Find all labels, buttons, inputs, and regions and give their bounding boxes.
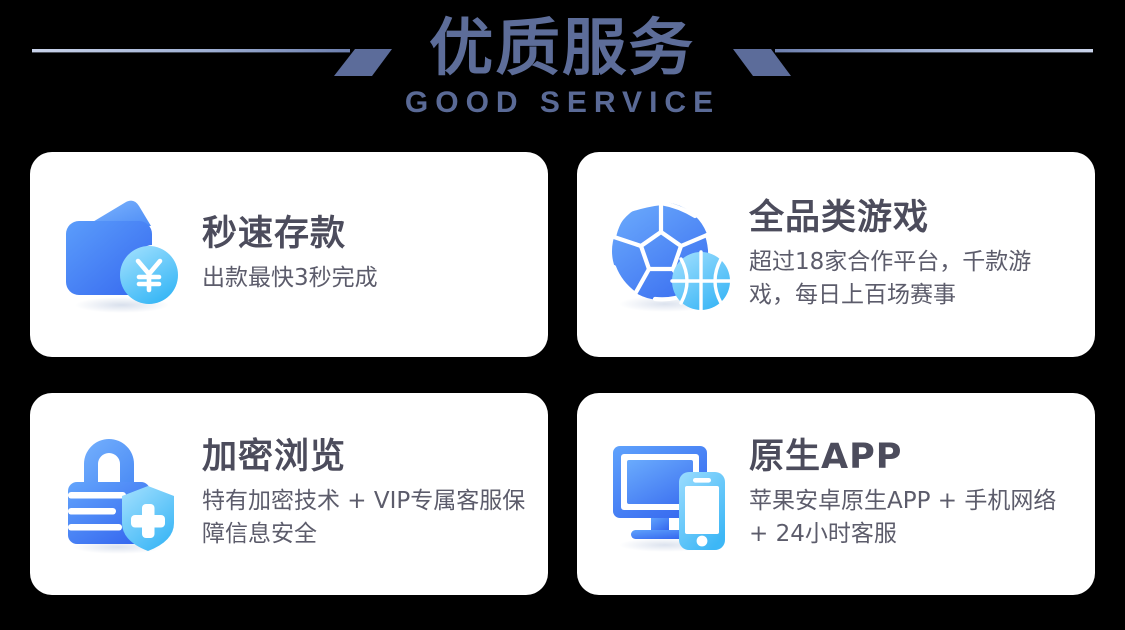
feature-card[interactable]: 加密浏览 特有加密技术 + VIP专属客服保障信息安全 <box>30 393 548 595</box>
header-titles: 优质服务 GOOD SERVICE <box>0 14 1125 118</box>
card-text: 全品类游戏 超过18家合作平台，千款游戏，每日上百场赛事 <box>735 198 1077 312</box>
feature-card[interactable]: 原生APP 苹果安卓原生APP + 手机网络 + 24小时客服 <box>577 393 1095 595</box>
card-subtitle: 超过18家合作平台，千款游戏，每日上百场赛事 <box>749 246 1077 311</box>
card-title: 秒速存款 <box>202 214 530 255</box>
card-title: 全品类游戏 <box>749 198 1077 239</box>
promo-banner: 优质服务 GOOD SERVICE <box>0 0 1125 630</box>
monitor-phone-icon <box>603 428 735 560</box>
card-text: 原生APP 苹果安卓原生APP + 手机网络 + 24小时客服 <box>735 437 1077 551</box>
header: 优质服务 GOOD SERVICE <box>0 0 1125 142</box>
feature-card[interactable]: 全品类游戏 超过18家合作平台，千款游戏，每日上百场赛事 <box>577 152 1095 357</box>
card-title: 原生APP <box>749 437 1077 478</box>
header-title-en: GOOD SERVICE <box>405 88 720 118</box>
card-subtitle: 出款最快3秒完成 <box>202 262 530 295</box>
lock-shield-icon <box>56 428 188 560</box>
card-text: 秒速存款 出款最快3秒完成 <box>188 214 530 295</box>
header-title-cn: 优质服务 <box>429 14 695 82</box>
wallet-icon <box>56 189 188 321</box>
card-subtitle: 苹果安卓原生APP + 手机网络 + 24小时客服 <box>749 485 1077 550</box>
feature-card-grid: 秒速存款 出款最快3秒完成 <box>30 152 1095 596</box>
card-text: 加密浏览 特有加密技术 + VIP专属客服保障信息安全 <box>188 437 530 551</box>
card-subtitle: 特有加密技术 + VIP专属客服保障信息安全 <box>202 485 530 550</box>
soccer-basketball-icon <box>603 189 735 321</box>
card-title: 加密浏览 <box>202 437 530 478</box>
feature-card[interactable]: 秒速存款 出款最快3秒完成 <box>30 152 548 357</box>
